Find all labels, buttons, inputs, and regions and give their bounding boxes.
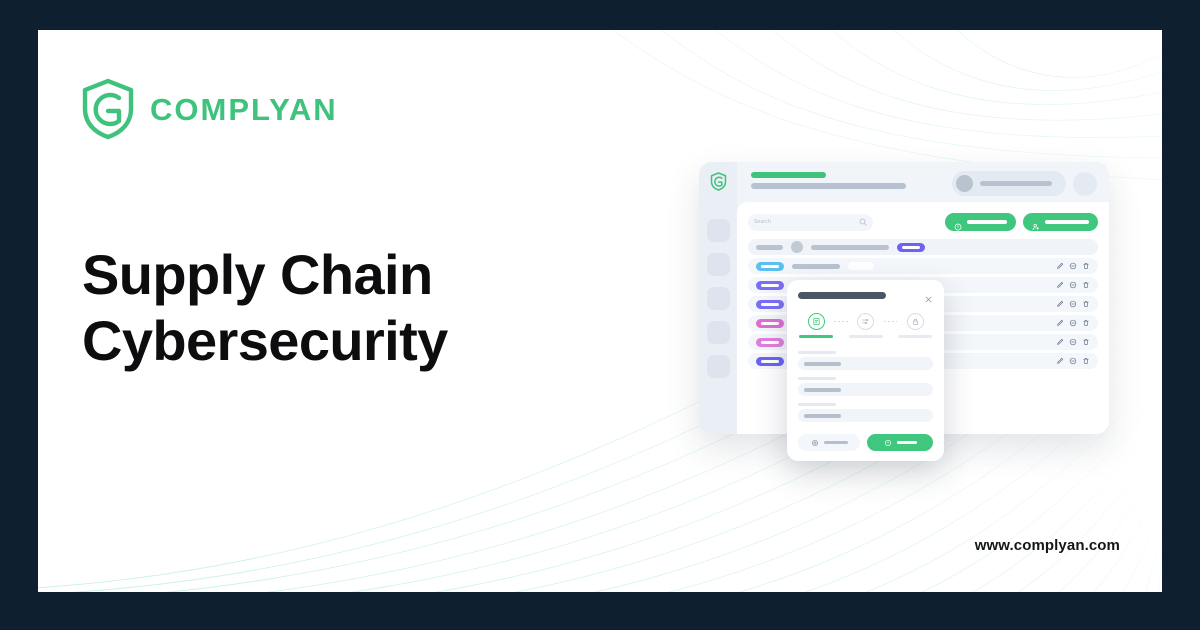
avatar: [791, 241, 803, 253]
modal-footer: [798, 434, 933, 451]
form-field-1: [798, 351, 933, 370]
app-topbar: [737, 162, 1109, 202]
form-field-2: [798, 377, 933, 396]
row-id-placeholder: [756, 245, 783, 250]
step-connector: [884, 321, 898, 322]
delete-trash-icon[interactable]: [1082, 357, 1090, 365]
user-name-placeholder: [980, 181, 1052, 186]
step-progress-bar: [799, 335, 833, 338]
dashboard-mockup: Search: [699, 162, 1109, 462]
primary-action-button[interactable]: [945, 213, 1016, 231]
topbar-right: [952, 171, 1097, 196]
row-actions: [1056, 319, 1090, 327]
delete-trash-icon[interactable]: [1082, 262, 1090, 270]
modal-title-placeholder: [798, 292, 886, 299]
block-minus-circle-icon[interactable]: [1069, 300, 1077, 308]
edit-pencil-icon[interactable]: [1056, 300, 1064, 308]
edit-pencil-icon[interactable]: [1056, 338, 1064, 346]
user-add-icon: [1032, 218, 1040, 226]
sidebar-item-2[interactable]: [707, 253, 730, 276]
content-toolbar: Search: [748, 213, 1098, 231]
delete-trash-icon[interactable]: [1082, 338, 1090, 346]
delete-trash-icon[interactable]: [1082, 281, 1090, 289]
app-subtitle-placeholder: [751, 183, 906, 189]
settings-step-icon: [857, 313, 874, 330]
sidebar-item-5[interactable]: [707, 355, 730, 378]
status-badge: [756, 319, 784, 328]
sidebar-item-4[interactable]: [707, 321, 730, 344]
block-minus-circle-icon[interactable]: [1069, 262, 1077, 270]
row-actions: [1056, 338, 1090, 346]
row-meta-placeholder: [792, 264, 840, 269]
brand-name: COMPLYAN: [150, 94, 338, 125]
modal-header: [798, 291, 933, 300]
row-actions: [1056, 357, 1090, 365]
modal-dialog: [787, 280, 944, 461]
status-badge: [897, 243, 925, 252]
status-badge: [756, 357, 784, 366]
step-progress-bar: [898, 335, 932, 338]
search-placeholder: Search: [754, 219, 771, 225]
row-actions: [1056, 300, 1090, 308]
app-sidebar: [699, 162, 737, 434]
info-circle-icon: [954, 218, 962, 226]
user-menu[interactable]: [952, 171, 1066, 196]
modal-form: [798, 351, 933, 422]
form-field-3: [798, 403, 933, 422]
step-1[interactable]: [798, 313, 834, 338]
field-value-placeholder: [804, 414, 841, 418]
table-row[interactable]: [748, 258, 1098, 274]
confirm-circle-icon: [884, 439, 892, 447]
table-row[interactable]: [748, 239, 1098, 255]
block-minus-circle-icon[interactable]: [1069, 357, 1077, 365]
search-input[interactable]: Search: [748, 214, 873, 231]
edit-pencil-icon[interactable]: [1056, 357, 1064, 365]
field-label-placeholder: [798, 377, 836, 380]
shield-c-logo-icon: [80, 78, 136, 140]
button-label-placeholder: [1045, 220, 1089, 224]
modal-confirm-button[interactable]: [867, 434, 933, 451]
modal-back-button[interactable]: [798, 434, 860, 451]
status-badge: [756, 281, 784, 290]
button-label-placeholder: [967, 220, 1007, 224]
status-badge: [756, 300, 784, 309]
more-circle-icon[interactable]: [1073, 172, 1097, 196]
row-chip: [848, 262, 874, 270]
step-2[interactable]: [848, 313, 884, 338]
delete-trash-icon[interactable]: [1082, 300, 1090, 308]
sidebar-item-1[interactable]: [707, 219, 730, 242]
avatar: [956, 175, 973, 192]
edit-pencil-icon[interactable]: [1056, 319, 1064, 327]
status-badge: [756, 262, 784, 271]
close-icon[interactable]: [924, 291, 933, 300]
lock-step-icon: [907, 313, 924, 330]
status-badge: [756, 338, 784, 347]
brand-logo: COMPLYAN: [80, 78, 338, 140]
headline-line-1: Supply Chain: [82, 243, 433, 306]
poster-panel: COMPLYAN Supply Chain Cybersecurity www.…: [38, 30, 1162, 592]
field-value-placeholder: [804, 362, 841, 366]
block-minus-circle-icon[interactable]: [1069, 281, 1077, 289]
step-3[interactable]: [897, 313, 933, 338]
field-label-placeholder: [798, 403, 836, 406]
toolbar-actions: [945, 213, 1098, 231]
site-url: www.complyan.com: [975, 537, 1120, 554]
field-input[interactable]: [798, 383, 933, 396]
back-circle-icon: [811, 439, 819, 447]
field-input[interactable]: [798, 357, 933, 370]
search-icon: [859, 213, 867, 231]
sidebar-item-3[interactable]: [707, 287, 730, 310]
row-actions: [1056, 281, 1090, 289]
edit-pencil-icon[interactable]: [1056, 281, 1064, 289]
step-progress-bar: [849, 335, 883, 338]
app-title-block: [751, 171, 906, 189]
app-title-placeholder: [751, 172, 826, 178]
add-user-button[interactable]: [1023, 213, 1098, 231]
sidebar-logo-icon: [710, 172, 727, 208]
row-actions: [1056, 262, 1090, 270]
row-name-placeholder: [811, 245, 889, 250]
document-step-icon: [808, 313, 825, 330]
field-label-placeholder: [798, 351, 836, 354]
field-value-placeholder: [804, 388, 841, 392]
field-input[interactable]: [798, 409, 933, 422]
edit-pencil-icon[interactable]: [1056, 262, 1064, 270]
block-minus-circle-icon[interactable]: [1069, 319, 1077, 327]
button-label-placeholder: [897, 441, 917, 444]
page-title: Supply Chain Cybersecurity: [82, 242, 448, 373]
button-label-placeholder: [824, 441, 848, 444]
step-connector: [834, 321, 848, 322]
headline-line-2: Cybersecurity: [82, 308, 448, 374]
block-minus-circle-icon[interactable]: [1069, 338, 1077, 346]
delete-trash-icon[interactable]: [1082, 319, 1090, 327]
modal-stepper: [798, 313, 933, 338]
